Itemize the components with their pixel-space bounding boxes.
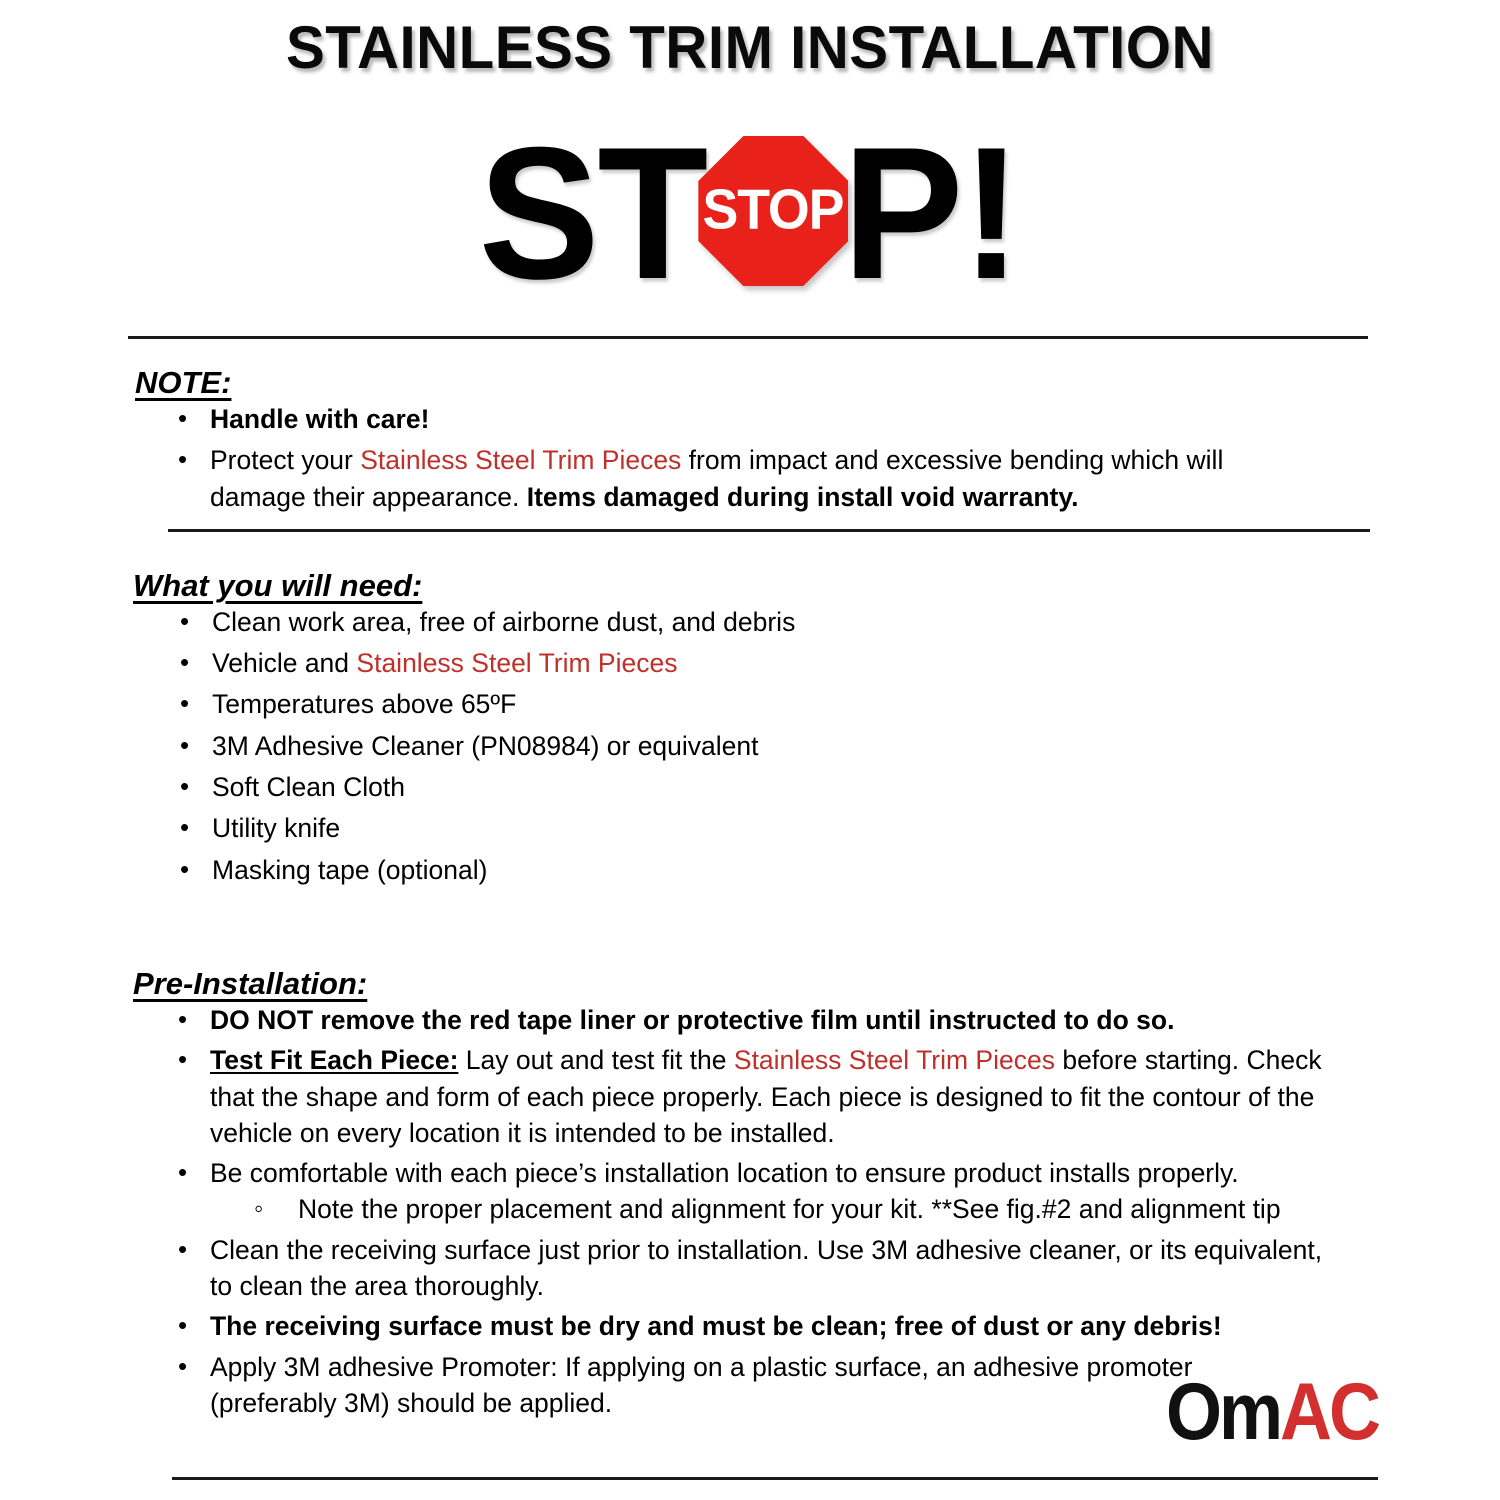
list-item: Handle with care! — [0, 401, 1500, 437]
preinstallation-list: DO NOT remove the red tape liner or prot… — [0, 1002, 1500, 1421]
list-item: The receiving surface must be dry and mu… — [0, 1308, 1500, 1344]
preinstallation-sublist: Note the proper placement and alignment … — [210, 1191, 1325, 1227]
divider-top — [128, 336, 1368, 339]
need-item-2-part-a: Vehicle and — [212, 648, 356, 678]
need-item-1: Clean work area, free of airborne dust, … — [212, 607, 795, 637]
need-item-7: Masking tape (optional) — [212, 855, 487, 885]
list-item: Clean work area, free of airborne dust, … — [0, 604, 1500, 640]
footer-divider-wrap — [0, 1477, 1500, 1480]
preinstall-item-5: The receiving surface must be dry and mu… — [210, 1311, 1222, 1341]
note-item-2-highlight: Stainless Steel Trim Pieces — [360, 445, 681, 475]
stop-graphic-right-text: P! — [843, 119, 1020, 307]
omac-logo-om: Om — [1166, 1367, 1280, 1457]
note-item-1: Handle with care! — [210, 404, 429, 434]
omac-logo: OmAC — [1166, 1372, 1378, 1453]
preinstall-item-2-part-a: Lay out and test fit the — [458, 1045, 733, 1075]
stop-sign-icon: STOP — [693, 131, 853, 291]
list-item: Masking tape (optional) — [0, 852, 1500, 888]
preinstall-item-4: Clean the receiving surface just prior t… — [210, 1235, 1322, 1301]
preinstall-item-3-sub: Note the proper placement and alignment … — [298, 1194, 1281, 1224]
preinstall-item-1: DO NOT remove the red tape liner or prot… — [210, 1005, 1174, 1035]
note-item-2-warning: Items damaged during install void warran… — [527, 482, 1079, 512]
sub-list-item: Note the proper placement and alignment … — [210, 1191, 1325, 1227]
list-item: Temperatures above 65ºF — [0, 686, 1500, 722]
preinstall-item-6: Apply 3M adhesive Promoter: If applying … — [210, 1352, 1193, 1418]
need-item-5: Soft Clean Cloth — [212, 772, 405, 802]
list-item: Vehicle and Stainless Steel Trim Pieces — [0, 645, 1500, 681]
need-item-3: Temperatures above 65ºF — [212, 689, 516, 719]
list-item: Clean the receiving surface just prior t… — [0, 1232, 1500, 1305]
section-heading-what-you-will-need: What you will need: — [133, 568, 1500, 604]
section-heading-pre-installation: Pre-Installation: — [133, 966, 1500, 1002]
omac-logo-ac: AC — [1280, 1367, 1378, 1457]
preinstall-item-3: Be comfortable with each piece’s install… — [210, 1158, 1239, 1188]
need-item-6: Utility knife — [212, 813, 340, 843]
stop-graphic: ST STOP P! — [0, 118, 1500, 308]
stop-sign-octagon: STOP — [698, 136, 848, 286]
note-list: Handle with care! Protect your Stainless… — [0, 401, 1500, 515]
preinstall-item-2-highlight: Stainless Steel Trim Pieces — [734, 1045, 1055, 1075]
list-item: 3M Adhesive Cleaner (PN08984) or equival… — [0, 728, 1500, 764]
divider-note — [168, 529, 1370, 532]
requirements-list: Clean work area, free of airborne dust, … — [0, 604, 1500, 888]
list-item: Test Fit Each Piece: Lay out and test fi… — [0, 1042, 1500, 1151]
need-item-2-highlight: Stainless Steel Trim Pieces — [356, 648, 677, 678]
stop-graphic-left-text: ST — [478, 119, 706, 307]
need-item-4: 3M Adhesive Cleaner (PN08984) or equival… — [212, 731, 759, 761]
page-title: STAINLESS TRIM INSTALLATION — [23, 0, 1478, 78]
list-item: Utility knife — [0, 810, 1500, 846]
list-item: Be comfortable with each piece’s install… — [0, 1155, 1500, 1228]
preinstall-item-2-label: Test Fit Each Piece: — [210, 1045, 458, 1075]
note-item-2-part-a: Protect your — [210, 445, 360, 475]
list-item: Protect your Stainless Steel Trim Pieces… — [0, 442, 1500, 515]
list-item: Soft Clean Cloth — [0, 769, 1500, 805]
section-heading-note: NOTE: — [135, 365, 1500, 401]
divider-bottom — [172, 1477, 1378, 1480]
stop-sign-label: STOP — [703, 183, 844, 240]
list-item: DO NOT remove the red tape liner or prot… — [0, 1002, 1500, 1038]
